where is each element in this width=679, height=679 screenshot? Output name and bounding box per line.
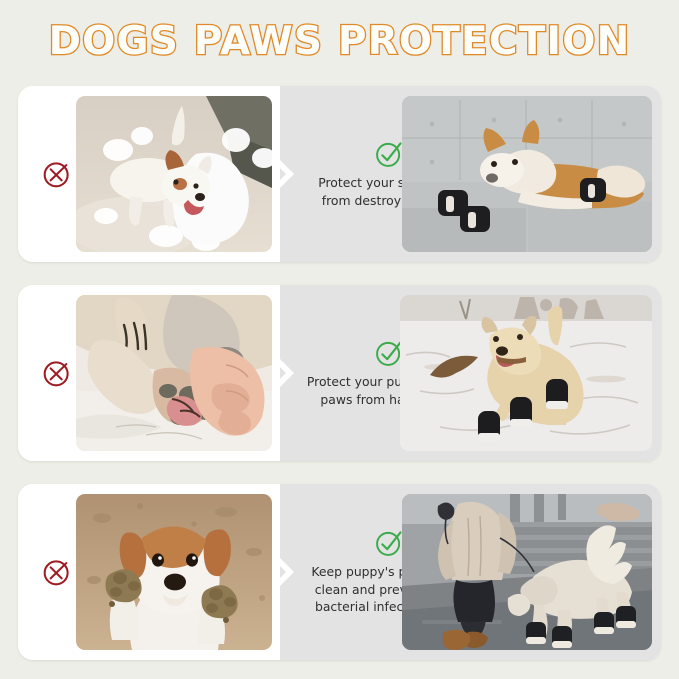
after-photo-1 bbox=[402, 96, 652, 252]
poodle-with-boots-on-stairs-photo bbox=[402, 494, 652, 650]
before-section bbox=[18, 484, 280, 660]
before-section bbox=[18, 86, 280, 262]
after-section: Protect your sofa from destroying bbox=[280, 86, 661, 262]
before-section bbox=[18, 285, 280, 461]
after-section: Protect your puppy's paws from harm bbox=[280, 285, 661, 461]
after-photo-3 bbox=[402, 494, 652, 650]
circle-x-icon bbox=[40, 356, 74, 390]
after-photo-2 bbox=[400, 295, 652, 451]
circle-x-icon bbox=[40, 555, 74, 589]
injured-paw-held-by-hand-photo bbox=[76, 295, 272, 451]
before-photo-2 bbox=[76, 295, 272, 451]
jack-russell-muddy-paws-photo bbox=[76, 494, 272, 650]
page-title: DOGS PAWS PROTECTION bbox=[0, 14, 679, 68]
shiba-inu-with-boots-on-sofa-photo bbox=[402, 96, 652, 252]
after-section: Keep puppy's paws clean and prevent bact… bbox=[280, 484, 661, 660]
dog-destroying-pillow-photo bbox=[76, 96, 272, 252]
before-photo-1 bbox=[76, 96, 272, 252]
infographic-page: DOGS PAWS PROTECTION bbox=[0, 0, 679, 679]
benefit-card: Protect your puppy's paws from harm bbox=[18, 285, 661, 461]
circle-x-icon bbox=[40, 157, 74, 191]
benefit-card: Keep puppy's paws clean and prevent bact… bbox=[18, 484, 661, 660]
benefit-card: Protect your sofa from destroying bbox=[18, 86, 661, 262]
page-title-text: DOGS PAWS PROTECTION bbox=[49, 19, 631, 64]
circle-check-icon bbox=[374, 528, 404, 558]
labrador-running-in-snow-with-boots-photo bbox=[400, 295, 652, 451]
circle-check-icon bbox=[374, 139, 404, 169]
before-photo-3 bbox=[76, 494, 272, 650]
